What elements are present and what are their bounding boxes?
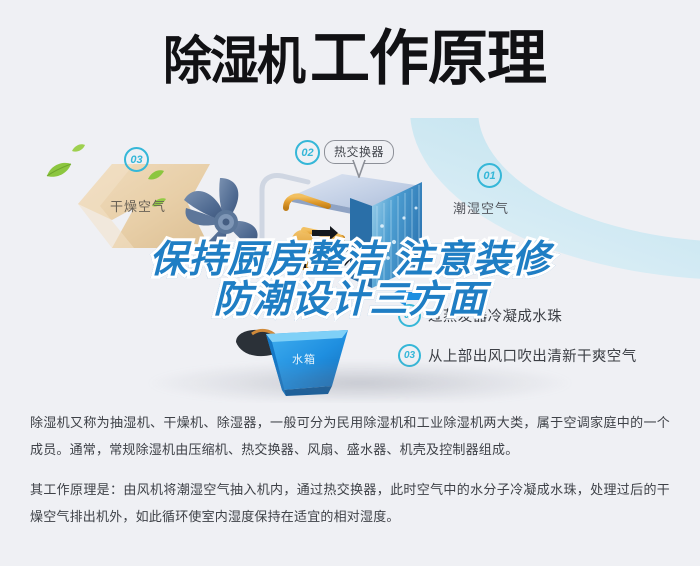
step-badge-02: 02	[398, 304, 421, 327]
callout-pointer-icon	[352, 160, 366, 178]
leaf-icon	[148, 170, 164, 181]
page-header: 除湿机 工作原理	[0, 0, 700, 118]
floor-shadow	[150, 361, 570, 401]
badge-01: 01	[477, 163, 502, 188]
article-paragraph-1: 除湿机又称为抽湿机、干燥机、除湿器，一般可分为民用除湿机和工业除湿机两大类，属于…	[30, 410, 670, 463]
article-body: 除湿机又称为抽湿机、干燥机、除湿器，一般可分为民用除湿机和工业除湿机两大类，属于…	[0, 410, 700, 545]
heat-exchanger-illustration	[246, 146, 456, 326]
leaf-icon	[46, 162, 72, 178]
leaf-icon	[72, 144, 85, 153]
page-title: 除湿机 工作原理	[154, 29, 546, 89]
badge-02: 02	[295, 140, 320, 165]
badge-03: 03	[124, 147, 149, 172]
humid-air-label: 潮湿空气	[453, 198, 509, 217]
article-paragraph-2: 其工作原理是：由风机将潮湿空气抽入机内，通过热交换器，此时空气中的水分子冷凝成水…	[30, 477, 670, 530]
step-text-02: 过蒸发器冷凝成水珠	[428, 305, 562, 326]
page-title-part2: 工作原理	[310, 29, 546, 89]
dehumidifier-diagram: 水箱 01 02 03 热交换器 潮湿空气 干燥空气 02 过蒸发器冷凝成水珠 …	[0, 118, 700, 403]
dry-air-label: 干燥空气	[110, 196, 166, 215]
step-caption-02: 02 过蒸发器冷凝成水珠	[398, 304, 562, 327]
page-title-part1: 除湿机	[163, 36, 304, 88]
